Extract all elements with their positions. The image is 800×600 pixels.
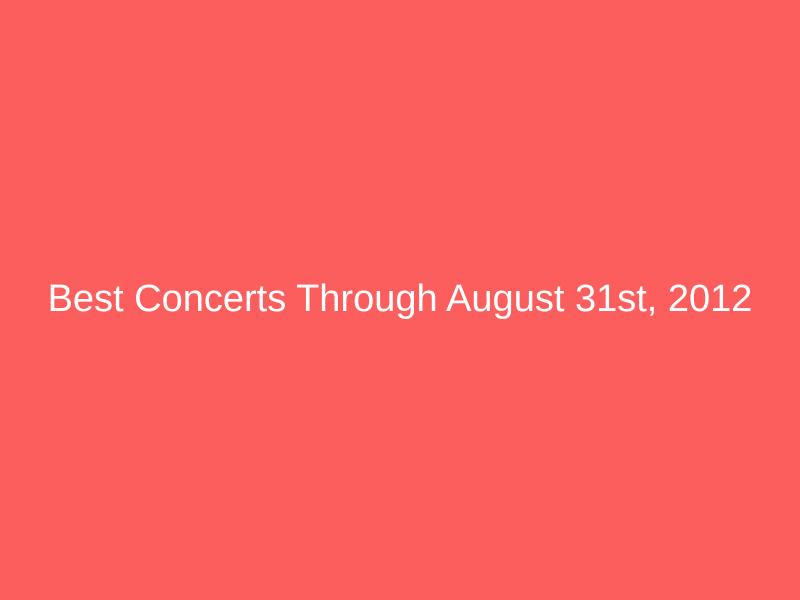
placeholder-caption: Best Concerts Through August 31st, 2012 <box>48 278 753 322</box>
placeholder-canvas: Best Concerts Through August 31st, 2012 <box>0 0 800 600</box>
